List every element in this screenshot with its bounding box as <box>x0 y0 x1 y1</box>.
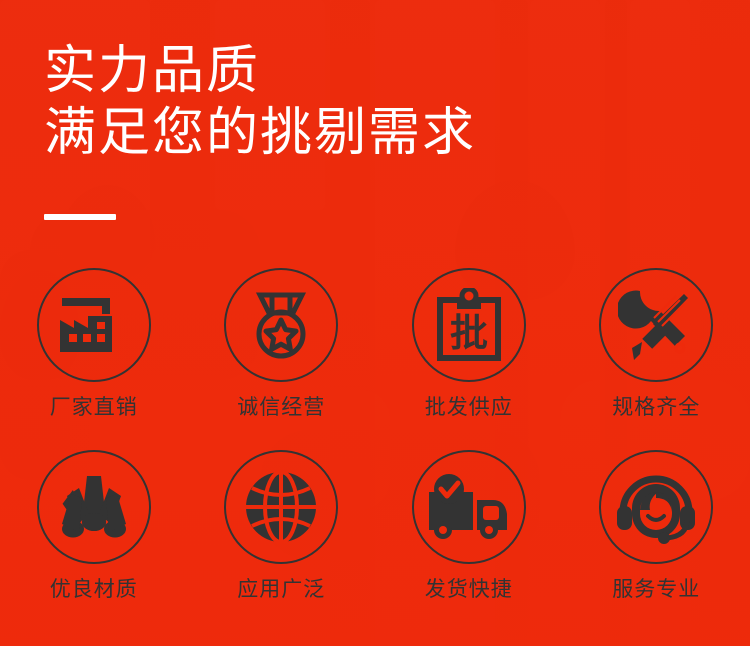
icon-circle <box>412 450 526 564</box>
factory-icon <box>58 294 130 356</box>
feature-item[interactable]: 规格齐全 <box>563 268 750 450</box>
feature-item[interactable]: 服务专业 <box>563 450 750 632</box>
clipboard-pi-icon: 批 <box>436 288 502 362</box>
feature-item[interactable]: 优良材质 <box>0 450 188 632</box>
icon-circle <box>224 450 338 564</box>
wrench-screwdriver-icon <box>618 288 694 362</box>
steel-pipes-icon <box>55 472 133 542</box>
feature-label: 批发供应 <box>425 396 513 420</box>
headline-divider <box>44 214 116 220</box>
icon-circle <box>599 450 713 564</box>
feature-item[interactable]: 应用广泛 <box>188 450 376 632</box>
feature-item[interactable]: 诚信经营 <box>188 268 376 450</box>
feature-label: 优良材质 <box>50 578 138 602</box>
feature-grid: 厂家直销 诚信经营 <box>0 268 750 632</box>
feature-item[interactable]: 批 批发供应 <box>375 268 563 450</box>
feature-item[interactable]: 厂家直销 <box>0 268 188 450</box>
icon-circle <box>37 268 151 382</box>
feature-item[interactable]: 发货快捷 <box>375 450 563 632</box>
feature-label: 服务专业 <box>612 578 700 602</box>
icon-circle <box>599 268 713 382</box>
headline: 实力品质 满足您的挑剔需求 <box>44 40 476 164</box>
feature-label: 诚信经营 <box>237 396 325 420</box>
medal-star-icon <box>246 289 316 361</box>
headline-line-1: 实力品质 <box>44 42 260 100</box>
icon-circle <box>37 450 151 564</box>
feature-label: 发货快捷 <box>425 578 513 602</box>
bottom-white-strip <box>0 646 750 662</box>
icon-circle: 批 <box>412 268 526 382</box>
feature-label: 规格齐全 <box>612 396 700 420</box>
promo-banner: 实力品质 满足您的挑剔需求 厂家直销 <box>0 0 750 662</box>
delivery-truck-check-icon <box>427 474 511 540</box>
icon-circle <box>224 268 338 382</box>
svg-text:批: 批 <box>450 311 488 355</box>
headline-line-2: 满足您的挑剔需求 <box>44 102 476 164</box>
globe-icon <box>243 469 319 545</box>
feature-label: 厂家直销 <box>50 396 138 420</box>
headset-support-icon <box>615 470 697 544</box>
feature-label: 应用广泛 <box>237 578 325 602</box>
